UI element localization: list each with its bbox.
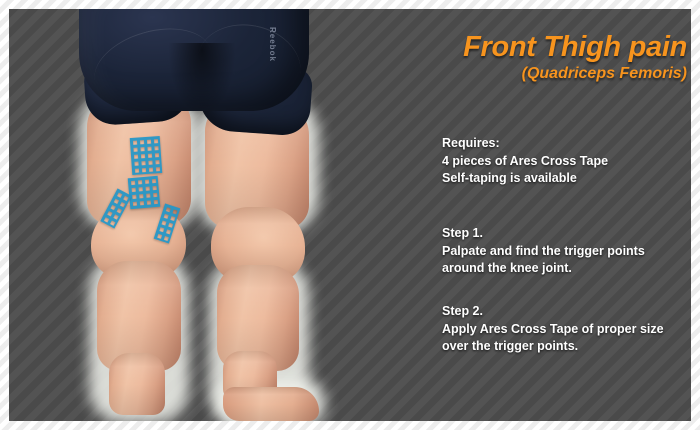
requires-block: Requires: 4 pieces of Ares Cross Tape Se…: [442, 135, 691, 188]
requires-line-2: Self-taping is available: [442, 170, 691, 188]
instructional-photo: Reebok: [9, 9, 339, 421]
step-2-block: Step 2. Apply Ares Cross Tape of proper …: [442, 303, 691, 356]
foot-right: [223, 387, 319, 421]
page-subtitle: (Quadriceps Femoris): [522, 65, 687, 83]
step-1-line-2: around the knee joint.: [442, 260, 691, 278]
requires-heading: Requires:: [442, 135, 691, 153]
step-2-line-1: Apply Ares Cross Tape of proper size: [442, 321, 691, 339]
step-2-line-2: over the trigger points.: [442, 338, 691, 356]
step-1-heading: Step 1.: [442, 225, 691, 243]
cross-tape-patch-upper: [130, 136, 163, 175]
poster-frame: Reebok Front Thigh pain (Quadriceps Femo…: [0, 0, 700, 430]
text-column: Front Thigh pain (Quadriceps Femoris) Re…: [424, 9, 691, 421]
cross-tape-patch-middle: [128, 176, 161, 209]
poster-panel: Reebok Front Thigh pain (Quadriceps Femo…: [9, 9, 691, 421]
page-title: Front Thigh pain: [463, 31, 687, 64]
step-1-block: Step 1. Palpate and find the trigger poi…: [442, 225, 691, 278]
requires-line-1: 4 pieces of Ares Cross Tape: [442, 153, 691, 171]
shorts-crotch-shadow: [169, 43, 235, 115]
step-2-heading: Step 2.: [442, 303, 691, 321]
step-1-line-1: Palpate and find the trigger points: [442, 243, 691, 261]
ankle-left: [109, 353, 165, 415]
brand-wordmark: Reebok: [268, 27, 277, 62]
